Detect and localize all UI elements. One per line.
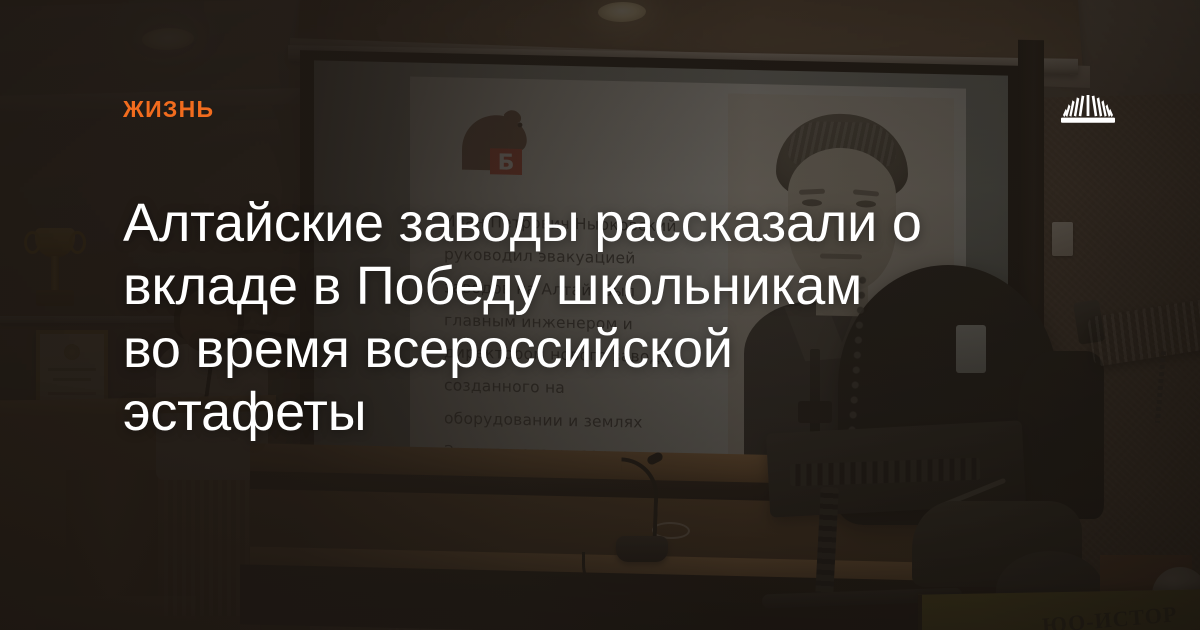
headline-line: эстафеты [123, 381, 983, 444]
sunburst-fan-logo[interactable] [1060, 92, 1116, 126]
headline-line: во время всероссийской [123, 318, 983, 381]
card-content: ЖИЗНЬ [0, 0, 1200, 630]
headline-line: Алтайские заводы рассказали о [123, 192, 983, 255]
headline-line: вкладе в Победу школьникам [123, 255, 983, 318]
news-share-card: Б Иван Петрович Нырковский руководил эва… [0, 0, 1200, 630]
page-title: Алтайские заводы рассказали о вкладе в П… [123, 192, 983, 444]
category-kicker[interactable]: ЖИЗНЬ [123, 98, 214, 121]
